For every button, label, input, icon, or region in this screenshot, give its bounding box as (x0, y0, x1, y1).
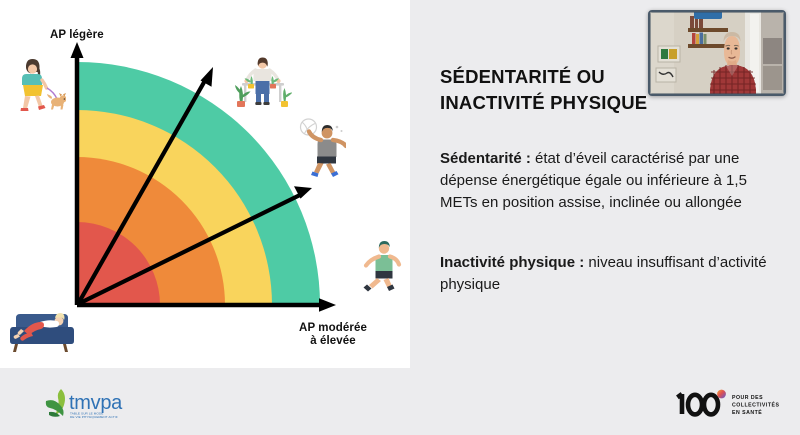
couch-lounger-illustration (10, 308, 74, 359)
gardener-illustration (234, 56, 292, 113)
runner-illustration (360, 240, 402, 299)
x-axis-arrowhead (319, 298, 336, 312)
x-axis-label-line2: à élevée (310, 335, 356, 347)
dog-walker-illustration (12, 58, 66, 119)
definition-separator-sedentarite: : (522, 150, 535, 167)
page-title-line2: INACTIVITÉ PHYSIQUE (440, 92, 647, 113)
tmvpa-logo: tmvpa TABLE SUR LE MODE DE VIE PHYSIQUEM… (44, 385, 164, 426)
hundred-degree-dot (717, 390, 726, 399)
x-axis-label: AP modérée à élevée (283, 322, 383, 348)
definition-inactivite: Inactivité physique : niveau insuffisant… (440, 252, 788, 296)
page-title-line1: SÉDENTARITÉ OU (440, 66, 605, 87)
hundred-number (677, 394, 718, 414)
volleyball-illustration (296, 118, 346, 183)
hundred-degrees-logo: POUR DES COLLECTIVITÉS EN SANTÉ (672, 384, 790, 425)
y-axis-arrowhead (71, 42, 84, 58)
hundred-tagline-line1: POUR DES (732, 395, 763, 401)
definition-separator-inactivite: : (575, 254, 588, 271)
definition-sedentarite: Sédentarité : état d’éveil caractérisé p… (440, 148, 788, 213)
hundred-tagline-line3: EN SANTÉ (732, 408, 762, 416)
definition-term-inactivite: Inactivité physique (440, 254, 575, 271)
x-axis-label-line1: AP modérée (299, 322, 367, 334)
slide-root: AP légère AP modérée à élevée (0, 0, 800, 435)
hundred-tagline-line2: COLLECTIVITÉS (732, 401, 779, 409)
tmvpa-leaf-mark (46, 389, 65, 417)
y-axis-label: AP légère (50, 29, 104, 42)
diagram-panel: AP légère AP modérée à élevée (0, 0, 410, 368)
presenter-video[interactable] (648, 10, 786, 96)
tmvpa-tagline-line2: DE VIE PHYSIQUEMENT ACTIF (70, 415, 118, 419)
definition-term-sedentarite: Sédentarité (440, 150, 522, 167)
